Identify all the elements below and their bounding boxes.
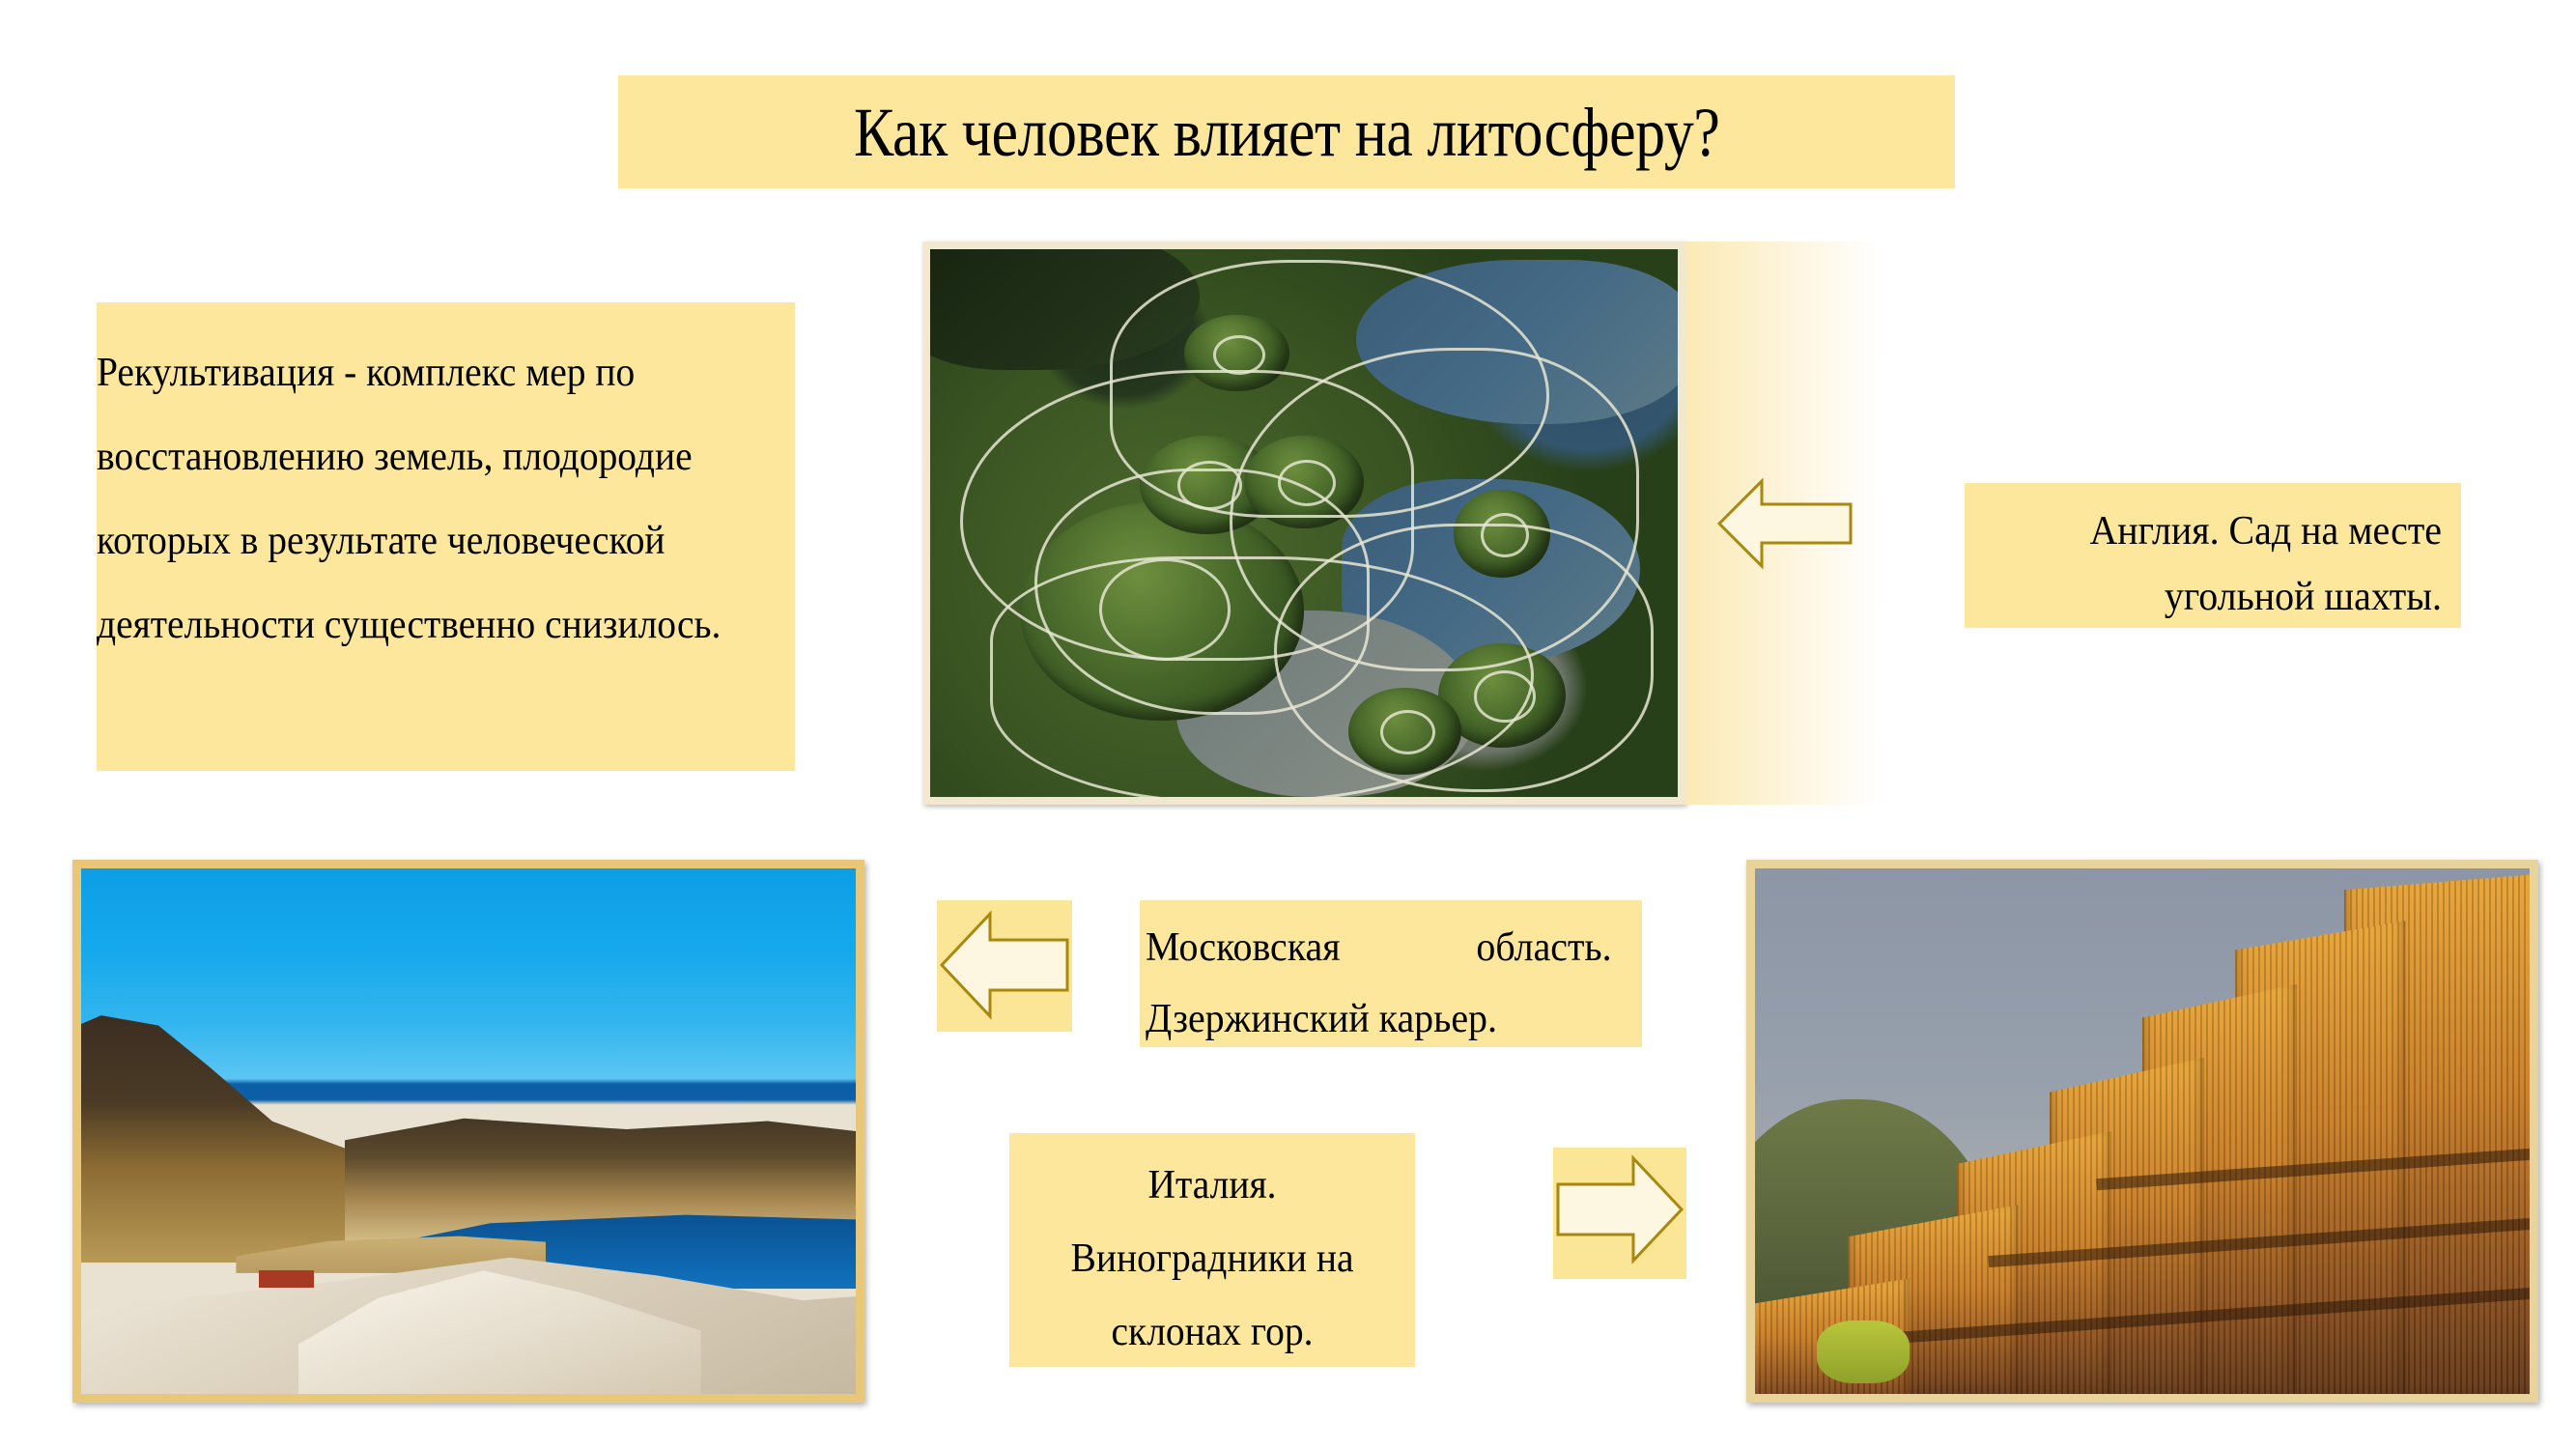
vineyard-photo [1755, 868, 2530, 1394]
italy-caption-line-2: Виноградники на [1022, 1222, 1403, 1295]
moscow-caption-box: Московская область. Дзержинский карьер. [1140, 900, 1642, 1047]
arrow-left-icon-england[interactable] [1717, 475, 1853, 572]
vineyard-green-patch [1817, 1321, 1910, 1383]
england-caption-text: Англия. Сад на месте угольной шахты. [1989, 498, 2442, 630]
italy-caption-text: Италия. Виноградники на склонах гор. [1022, 1149, 1403, 1369]
arrow-left-icon [939, 908, 1070, 1022]
arrow-left-icon [1717, 475, 1853, 572]
quarry-image-frame [72, 860, 864, 1403]
england-caption-line-1: Англия. Сад на месте [1989, 498, 2442, 564]
quarry-photo [81, 868, 856, 1394]
moscow-caption-line-2: Дзержинский карьер. [1146, 983, 1612, 1055]
arrow-right-icon [1555, 1151, 1684, 1267]
vineyard-image-frame [1746, 860, 2538, 1403]
italy-caption-line-1: Италия. [1022, 1149, 1403, 1222]
moscow-caption-line-1: Московская область. [1146, 912, 1612, 983]
quarry-truck [259, 1270, 313, 1287]
england-caption-box: Англия. Сад на месте угольной шахты. [1965, 483, 2461, 628]
moscow-caption-text: Московская область. Дзержинский карьер. [1146, 912, 1612, 1055]
garden-photo [930, 249, 1678, 797]
definition-paragraph: Рекультивация - комплекс мер по восстано… [97, 331, 753, 668]
title-banner: Как человек влияет на литосферу? [618, 75, 1955, 188]
arrow-left-icon-moscow[interactable] [939, 908, 1070, 1022]
arrow-right-icon-italy[interactable] [1555, 1151, 1684, 1267]
page-title: Как человек влияет на литосферу? [854, 98, 1719, 167]
garden-image-frame [922, 241, 1685, 805]
italy-caption-box: Италия. Виноградники на склонах гор. [1009, 1133, 1415, 1367]
definition-text-box: Рекультивация - комплекс мер по восстано… [97, 302, 795, 771]
italy-caption-line-3: склонах гор. [1022, 1295, 1403, 1369]
england-caption-line-2: угольной шахты. [1989, 564, 2442, 630]
